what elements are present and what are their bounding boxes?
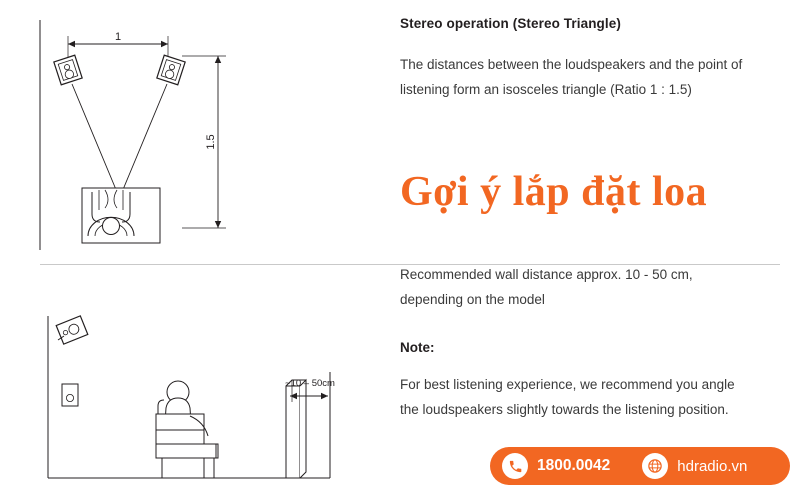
note-description: For best listening experience, we recomm…: [400, 372, 735, 422]
globe-icon: [642, 453, 668, 479]
dimension-width-label: 1: [115, 31, 121, 43]
contact-bar: 1800.0042 hdradio.vn: [490, 447, 790, 485]
note-label: Note:: [400, 340, 435, 355]
phone-contact[interactable]: 1800.0042: [490, 447, 610, 485]
website-contact[interactable]: hdradio.vn: [630, 447, 747, 485]
diagrams-column: 1 1.5: [0, 0, 390, 500]
dimension-depth-label: 1.5: [205, 134, 217, 149]
website-url: hdradio.vn: [677, 458, 747, 475]
phone-number: 1800.0042: [537, 457, 610, 475]
section-heading: Stereo operation (Stereo Triangle): [400, 16, 621, 31]
side-view-diagram: ~10 – 50cm: [0, 268, 390, 500]
phone-icon: [502, 453, 528, 479]
vietnamese-title: Gợi ý lắp đặt loa: [400, 168, 707, 216]
stereo-triangle-diagram: 1 1.5: [0, 0, 390, 262]
text-column: Stereo operation (Stereo Triangle) The d…: [400, 0, 800, 500]
wall-distance-label: ~10 – 50cm: [285, 378, 335, 389]
wall-distance-description: Recommended wall distance approx. 10 - 5…: [400, 262, 740, 312]
stereo-description: The distances between the loudspeakers a…: [400, 52, 750, 102]
page-root: 1 1.5: [0, 0, 800, 500]
